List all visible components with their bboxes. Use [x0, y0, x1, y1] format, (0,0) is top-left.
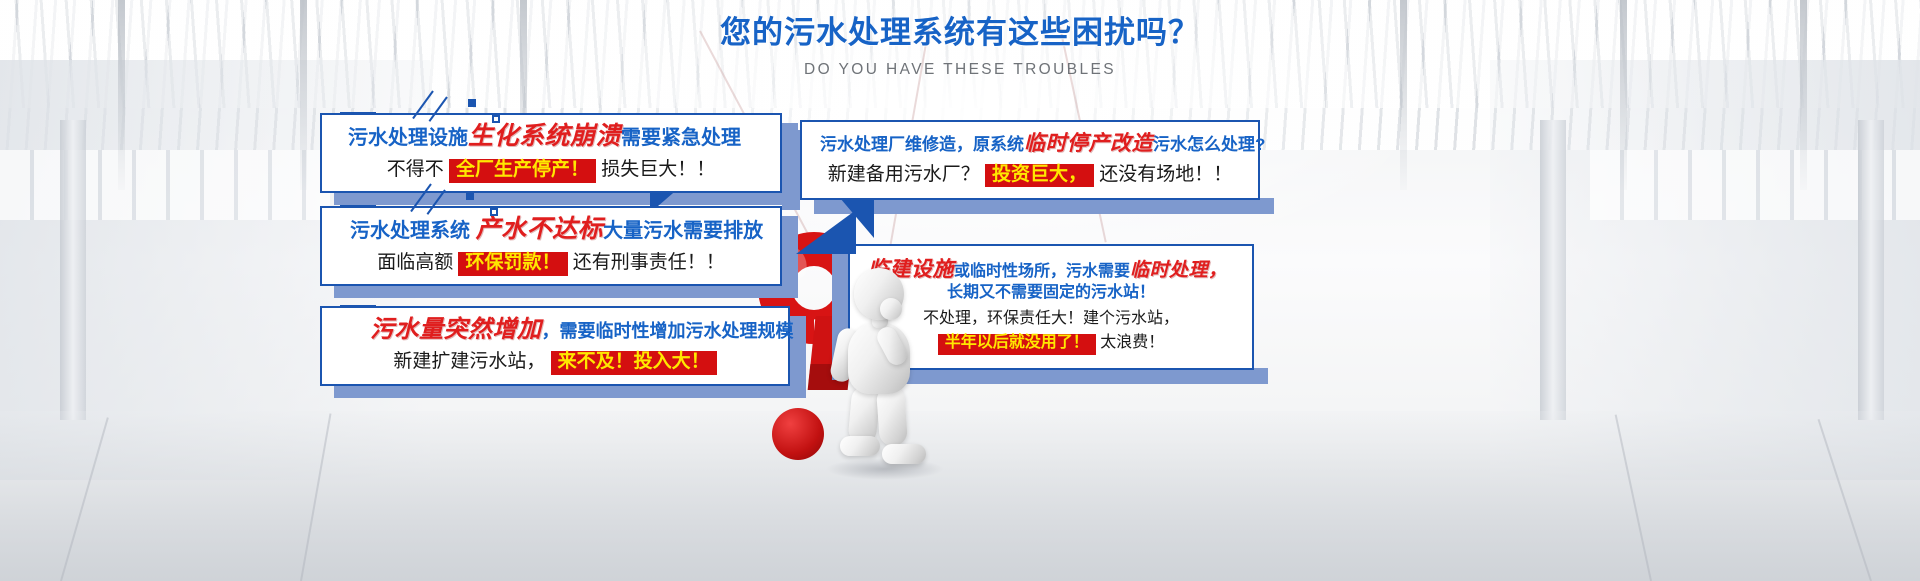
- page-title: 您的污水处理系统有这些困扰吗？: [0, 16, 1920, 50]
- bubble-2-card: 污水处理厂维修造，原系统临时停产改造污水怎么处理? 新建备用污水厂？ 投资巨大，…: [800, 120, 1260, 200]
- thinking-person-figure: [826, 268, 944, 481]
- bubble-3-seg-3: 大量污水需要排放: [603, 220, 763, 242]
- bubble-3-square-filled: [466, 192, 474, 200]
- support-column: [1540, 120, 1566, 420]
- bubble-2-shadow: [814, 198, 1274, 214]
- bubble-2-seg-5: 还没有场地！！: [1099, 164, 1232, 185]
- bubble-1-square-filled: [468, 99, 476, 107]
- bubble-1-seg-5: 损失巨大！！: [601, 159, 715, 180]
- bubble-4[interactable]: 污水量突然增加，需要临时性增加污水处理规模 新建扩建污水站， 来不及！投入大！: [320, 306, 800, 388]
- bubble-2-highlight: 投资巨大，: [985, 164, 1094, 188]
- figure-foot-right: [882, 444, 926, 464]
- bubble-1-line-1: 污水处理设施生化系统崩溃需要紧急处理: [336, 123, 766, 149]
- bubble-3-highlight: 环保罚款！: [458, 252, 567, 276]
- bubble-3-seg-5: 还有刑事责任！！: [573, 252, 725, 273]
- bubble-1-card: 污水处理设施生化系统崩溃需要紧急处理 不得不 全厂生产停产！ 损失巨大！！: [320, 113, 782, 193]
- bubble-2[interactable]: 污水处理厂维修造，原系统临时停产改造污水怎么处理? 新建备用污水厂？ 投资巨大，…: [800, 120, 1270, 202]
- bubble-3-seg-4: 面临高额: [377, 252, 453, 273]
- figure-hand: [880, 298, 902, 320]
- bubble-3-dash-left: [340, 205, 376, 207]
- bubble-2-shadow-side: [782, 130, 800, 210]
- bubble-1-line-2: 不得不 全厂生产停产！ 损失巨大！！: [336, 159, 766, 183]
- bubble-3-line-1: 污水处理系统 产水不达标大量污水需要排放: [336, 216, 766, 242]
- bubble-4-highlight: 来不及！投入大！: [551, 351, 717, 375]
- bubble-1-highlight: 全厂生产停产！: [449, 159, 596, 183]
- bubble-3-seg-2: 产水不达标: [476, 215, 604, 243]
- bubble-4-seg-1: 污水量突然增加: [370, 316, 542, 343]
- bubble-5-seg-6: 太浪费！: [1100, 334, 1164, 351]
- bubble-5-seg-5: 不处理，环保责任大！建个污水站，: [923, 310, 1179, 327]
- figure-foot-left: [840, 436, 880, 456]
- figure-leg-right: [876, 385, 908, 447]
- bubble-5-seg-4: 长期又不需要固定的污水站！: [947, 284, 1155, 301]
- bubble-4-seg-3: 新建扩建污水站，: [393, 351, 545, 372]
- bubble-2-seg-4: 新建备用污水厂？: [828, 164, 980, 185]
- bubble-3-card: 污水处理系统 产水不达标大量污水需要排放 面临高额 环保罚款！ 还有刑事责任！！: [320, 206, 782, 286]
- bubble-3[interactable]: 污水处理系统 产水不达标大量污水需要排放 面临高额 环保罚款！ 还有刑事责任！！: [320, 206, 790, 288]
- bubble-4-line-2: 新建扩建污水站， 来不及！投入大！: [334, 351, 776, 375]
- bubble-5-seg-2: 或临时性场所，污水需要: [954, 263, 1130, 280]
- support-column: [1858, 120, 1884, 420]
- bubble-2-seg-3: 污水怎么处理?: [1153, 135, 1265, 154]
- bubble-1-dash-left: [340, 112, 376, 114]
- bubble-5-highlight: 半年以后就没用了！: [938, 334, 1096, 355]
- bubble-2-line-1: 污水处理厂维修造，原系统临时停产改造污水怎么处理?: [814, 133, 1246, 155]
- bubble-3-line-2: 面临高额 环保罚款！ 还有刑事责任！！: [336, 252, 766, 276]
- question-mark-dot: [772, 408, 824, 460]
- bubble-3-square-outline: [490, 208, 498, 216]
- bubble-3-seg-1: 污水处理系统: [350, 220, 470, 242]
- bubble-2-line-2: 新建备用污水厂？ 投资巨大， 还没有场地！！: [814, 164, 1246, 188]
- support-column: [60, 120, 86, 420]
- bubble-4-line-1: 污水量突然增加，需要临时性增加污水处理规模: [334, 317, 776, 342]
- bubble-5-tail: [796, 210, 856, 254]
- bubble-1-seg-2: 生化系统崩溃: [468, 122, 621, 150]
- bubble-4-card: 污水量突然增加，需要临时性增加污水处理规模 新建扩建污水站， 来不及！投入大！: [320, 306, 790, 386]
- bubble-1-seg-3: 需要紧急处理: [621, 127, 741, 149]
- bubble-5-seg-3: 临时处理，: [1130, 260, 1228, 281]
- bubble-2-seg-2: 临时停产改造: [1024, 132, 1153, 155]
- window-row-left: [0, 150, 330, 220]
- bubble-4-seg-2: ，需要临时性增加污水处理规模: [542, 321, 794, 341]
- bubble-2-seg-1: 污水处理厂维修造，原系统: [820, 135, 1024, 154]
- bubble-1[interactable]: 污水处理设施生化系统崩溃需要紧急处理 不得不 全厂生产停产！ 损失巨大！！: [320, 113, 790, 195]
- bubble-1-seg-1: 污水处理设施: [348, 127, 468, 149]
- bubble-1-square-outline: [492, 115, 500, 123]
- bubble-4-dash-left: [340, 305, 376, 307]
- bubble-1-seg-4: 不得不: [387, 159, 444, 180]
- banner-header: 您的污水处理系统有这些困扰吗？ DO YOU HAVE THESE TROUBL…: [0, 16, 1920, 79]
- page-subtitle: DO YOU HAVE THESE TROUBLES: [0, 61, 1920, 79]
